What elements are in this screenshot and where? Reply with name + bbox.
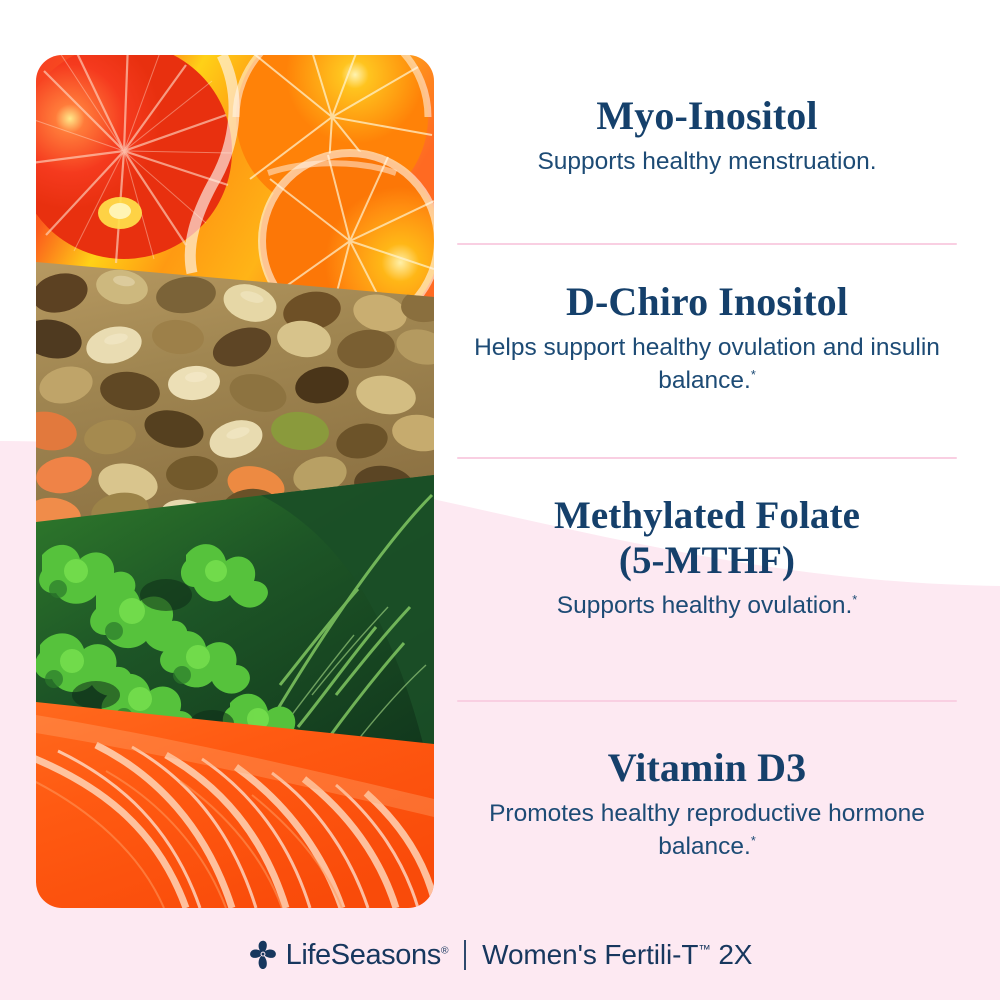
ingredient-block-myo-inositol: Myo-Inositol Supports healthy menstruati…	[450, 93, 964, 179]
product-suffix-text: 2X	[718, 939, 752, 970]
ingredient-description-text: Promotes healthy reproductive hormone ba…	[489, 800, 925, 860]
footer-separator	[464, 940, 466, 970]
ingredient-description: Promotes healthy reproductive hormone ba…	[450, 798, 964, 864]
ingredient-description: Supports healthy menstruation.	[450, 146, 964, 179]
lifeseasons-brand[interactable]: LifeSeasons®	[248, 939, 449, 972]
ingredient-title-line-1: Methylated Folate	[450, 493, 964, 538]
ingredient-description-text: Helps support healthy ovulation and insu…	[474, 334, 940, 394]
section-divider-1	[457, 243, 957, 245]
ingredient-title-line-2: (5-MTHF)	[450, 538, 964, 583]
ingredient-block-methylated-folate: Methylated Folate (5-MTHF) Supports heal…	[450, 493, 964, 623]
section-divider-2	[457, 457, 957, 459]
brand-name: LifeSeasons®	[286, 939, 449, 972]
asterisk-footnote-mark: *	[751, 367, 756, 382]
infographic-canvas: Myo-Inositol Supports healthy menstruati…	[0, 0, 1000, 1000]
ingredient-block-d-chiro-inositol: D-Chiro Inositol Helps support healthy o…	[450, 279, 964, 398]
ingredient-description-text: Supports healthy menstruation.	[537, 148, 876, 175]
ingredient-title: D-Chiro Inositol	[450, 279, 964, 325]
brand-name-text: LifeSeasons	[286, 939, 441, 971]
ingredient-title: Myo-Inositol	[450, 93, 964, 139]
ingredient-block-vitamin-d3: Vitamin D3 Promotes healthy reproductive…	[450, 745, 964, 864]
asterisk-footnote-mark: *	[852, 592, 857, 607]
ingredient-description: Helps support healthy ovulation and insu…	[450, 332, 964, 398]
asterisk-footnote-mark: *	[751, 833, 756, 848]
ingredient-list: Myo-Inositol Supports healthy menstruati…	[450, 55, 964, 908]
lifeseasons-pinwheel-icon	[248, 939, 278, 971]
ingredient-description-text: Supports healthy ovulation.	[557, 592, 853, 619]
ingredient-description: Supports healthy ovulation.*	[450, 590, 964, 623]
product-name-text: Women's Fertili-T	[482, 939, 698, 970]
ingredient-photo-collage	[36, 55, 434, 908]
section-divider-3	[457, 700, 957, 702]
registered-trademark-icon: ®	[441, 945, 448, 956]
ingredient-title: Vitamin D3	[450, 745, 964, 791]
trademark-icon: ™	[698, 943, 710, 957]
product-name: Women's Fertili-T™ 2X	[482, 939, 752, 971]
footer-brand-lockup: LifeSeasons® Women's Fertili-T™ 2X	[0, 925, 1000, 985]
